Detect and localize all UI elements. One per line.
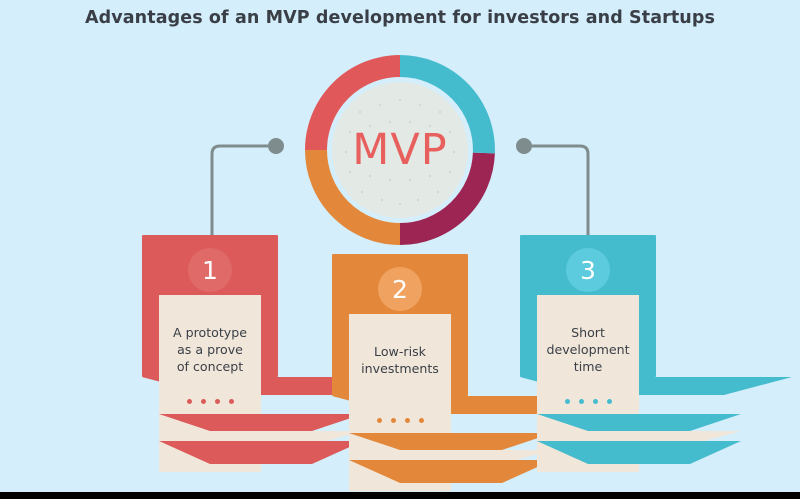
card-3-dots — [537, 375, 639, 414]
dot — [405, 418, 410, 423]
connector-left-dot — [268, 138, 284, 154]
connector-right — [516, 136, 606, 242]
card-1-number: 1 — [202, 256, 218, 285]
card-3-chevron-top — [537, 414, 741, 431]
card-2-panel: Low-risk investments — [349, 314, 451, 491]
bottom-bar — [0, 492, 800, 499]
connector-right-line — [532, 146, 588, 242]
connector-left — [204, 136, 294, 242]
dot — [579, 399, 584, 404]
card-3-chevron-bottom — [537, 441, 741, 464]
mvp-donut-chart: MVP — [300, 50, 500, 250]
dot — [229, 399, 234, 404]
card-2-chevrons — [349, 433, 451, 491]
dot — [187, 399, 192, 404]
card-1-panel: A prototype as a prove of concept — [159, 295, 261, 472]
card-1-dots — [159, 375, 261, 414]
dot — [201, 399, 206, 404]
advantage-card-2[interactable]: 2 Low-risk investments — [332, 254, 468, 396]
card-2-number: 2 — [392, 275, 408, 304]
card-2-chevron-top — [349, 433, 553, 450]
advantage-card-3[interactable]: 3 Short development time — [520, 235, 656, 377]
page-title: Advantages of an MVP development for inv… — [0, 8, 800, 28]
card-3-panel: Short development time — [537, 295, 639, 472]
connector-right-dot — [516, 138, 532, 154]
dot — [419, 418, 424, 423]
card-2-text: Low-risk investments — [349, 314, 451, 377]
card-3-number-badge: 3 — [566, 248, 610, 292]
card-2-number-badge: 2 — [378, 267, 422, 311]
dot — [391, 418, 396, 423]
donut-svg — [300, 50, 500, 250]
card-2-dots — [349, 377, 451, 433]
card-3-chevrons — [537, 414, 639, 472]
card-1-number-badge: 1 — [188, 248, 232, 292]
card-2-chevron-bottom — [349, 460, 553, 483]
dot — [607, 399, 612, 404]
donut-inner-disc — [332, 82, 468, 218]
card-1-text: A prototype as a prove of concept — [159, 295, 261, 375]
advantage-card-1[interactable]: 1 A prototype as a prove of concept — [142, 235, 278, 377]
card-1-chevron-top — [159, 414, 363, 431]
dot — [565, 399, 570, 404]
card-1-chevron-bottom — [159, 441, 363, 464]
infographic-canvas: Advantages of an MVP development for inv… — [0, 0, 800, 499]
card-1-chevrons — [159, 414, 261, 472]
card-3-number: 3 — [580, 256, 596, 285]
connector-left-line — [212, 146, 268, 242]
card-3-text: Short development time — [537, 295, 639, 375]
dot — [215, 399, 220, 404]
dot — [593, 399, 598, 404]
dot — [377, 418, 382, 423]
